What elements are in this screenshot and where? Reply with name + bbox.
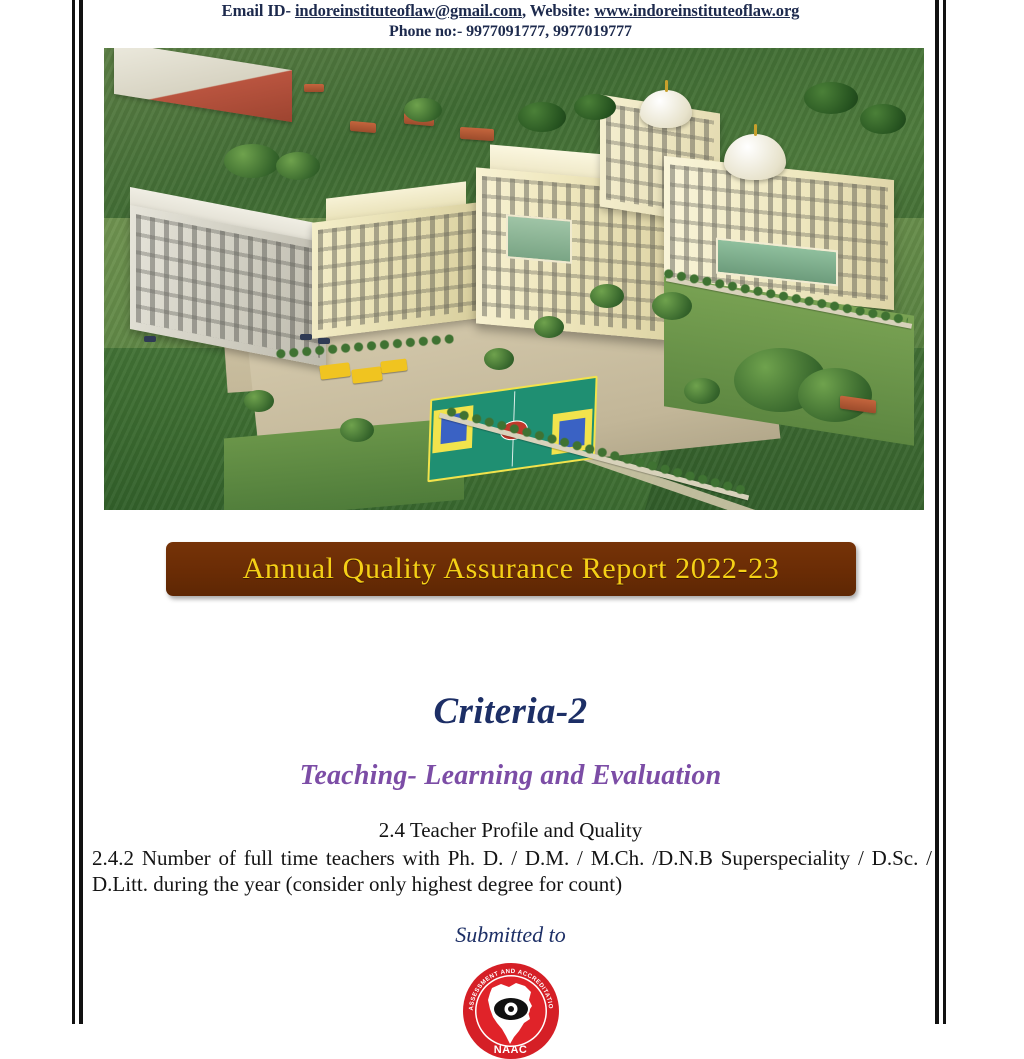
campus-aerial-photo-image xyxy=(104,48,924,510)
photo-tree-13 xyxy=(534,316,564,338)
phone-line: Phone no:- 9977091777, 9977019777 xyxy=(86,21,935,42)
report-title-banner: Annual Quality Assurance Report 2022-23 xyxy=(166,542,856,596)
email-website-line: Email ID- indoreinstituteoflaw@gmail.com… xyxy=(86,0,935,21)
photo-tree-10 xyxy=(484,348,514,370)
photo-outbuilding-3 xyxy=(460,127,494,141)
photo-tree-5 xyxy=(804,82,858,114)
email-label: Email ID- xyxy=(222,1,291,20)
submitted-to-label: Submitted to xyxy=(86,922,935,948)
photo-tree-12 xyxy=(244,390,274,412)
photo-tree-2 xyxy=(276,152,320,180)
photo-tree-3 xyxy=(518,102,566,132)
photo-tree-1 xyxy=(224,144,280,178)
criteria-heading: Criteria-2 xyxy=(86,690,935,733)
photo-car-3 xyxy=(144,336,156,342)
page-border-right-inner xyxy=(943,0,946,1024)
photo-outbuilding-4 xyxy=(304,84,324,92)
photo-tree-14 xyxy=(590,284,624,308)
document-page: Email ID- indoreinstituteoflaw@gmail.com… xyxy=(0,0,1024,1024)
photo-mid-block-windows xyxy=(318,210,481,330)
email-separator: , xyxy=(522,1,530,20)
photo-outbuilding-2 xyxy=(350,121,376,133)
phone-label: Phone no:- xyxy=(389,23,466,40)
naac-seal-container: NATIONAL ASSESSMENT AND ACCREDITATION CO… xyxy=(86,963,935,1059)
email-address[interactable]: indoreinstituteoflaw@gmail.com xyxy=(295,1,522,20)
page-content: Email ID- indoreinstituteoflaw@gmail.com… xyxy=(86,0,935,1024)
photo-tree-15 xyxy=(404,98,442,122)
photo-dome-finial-1 xyxy=(754,124,757,136)
naac-eye-emblem xyxy=(494,998,528,1020)
photo-tree-7 xyxy=(798,368,872,422)
website-label: Website: xyxy=(530,1,595,20)
page-border-left-inner xyxy=(79,0,83,1024)
campus-aerial-photo xyxy=(104,48,924,510)
report-title: Annual Quality Assurance Report 2022-23 xyxy=(243,552,780,586)
photo-tree-6 xyxy=(860,104,906,134)
website-url[interactable]: www.indoreinstituteoflaw.org xyxy=(594,1,799,20)
section-heading: 2.4 Teacher Profile and Quality xyxy=(86,818,935,843)
photo-main-block-glass-facade xyxy=(506,214,572,264)
photo-tree-4 xyxy=(574,94,616,120)
criteria-subtitle: Teaching- Learning and Evaluation xyxy=(86,760,935,792)
naac-abbreviation: NAAC xyxy=(463,1044,559,1056)
photo-dome-finial-2 xyxy=(665,80,668,92)
photo-car-1 xyxy=(300,334,312,340)
page-border-right-outer xyxy=(935,0,939,1024)
photo-tree-9 xyxy=(684,378,720,404)
section-body-text: 2.4.2 Number of full time teachers with … xyxy=(92,845,932,897)
phone-numbers: 9977091777, 9977019777 xyxy=(466,23,632,40)
page-border-left-outer xyxy=(72,0,75,1024)
contact-header: Email ID- indoreinstituteoflaw@gmail.com… xyxy=(86,0,935,42)
naac-logo: NATIONAL ASSESSMENT AND ACCREDITATION CO… xyxy=(463,963,559,1059)
photo-tree-11 xyxy=(340,418,374,442)
photo-mid-academic-block xyxy=(312,201,487,338)
photo-tree-8 xyxy=(652,292,692,320)
